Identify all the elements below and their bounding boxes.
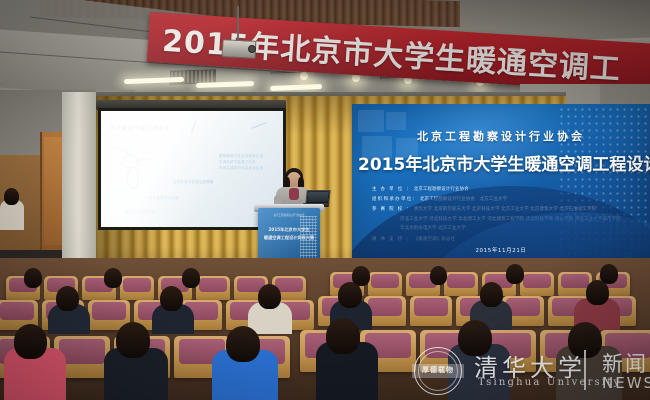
watermark: 厚德载物 清华大学 Tsinghua University 新闻 NEWS (412, 344, 650, 400)
credit-label: 主 办 单 位 ： (372, 186, 412, 192)
blue-backdrop-banner: 北京工程勘察设计行业协会 2015年北京市大学生暖通空调工程设计实践大赛 主 办… (352, 104, 650, 276)
audience-head (182, 268, 200, 288)
ceiling-spotlight (300, 72, 308, 80)
audience-head (506, 264, 524, 284)
watermark-university-en: Tsinghua University (478, 377, 621, 388)
projector-mount-rod (237, 6, 239, 42)
banner-main-title: 2015年北京市大学生暖通空调工程设计实践大赛 (358, 150, 650, 175)
banner-association-title: 北京工程勘察设计行业协会 (352, 128, 650, 144)
seat (520, 272, 554, 296)
seat (444, 272, 478, 296)
seat (368, 272, 402, 296)
audience-head (116, 322, 150, 358)
laptop-screen (307, 192, 328, 202)
speaker-scarf (289, 188, 299, 200)
audience-head (14, 324, 47, 359)
banner-credit-row: 主 办 单 位 ： 北京工程勘察设计行业协会 (372, 186, 469, 192)
audience-head (326, 318, 360, 354)
audience-head (586, 280, 609, 305)
wall-pillar (62, 92, 98, 260)
banner-glow (392, 104, 572, 194)
seat (196, 276, 230, 300)
audience-head (104, 268, 122, 288)
audience-head (56, 286, 79, 311)
seat (410, 296, 452, 326)
audience-head (430, 266, 447, 285)
projector-lens-icon (248, 45, 256, 53)
watermark-divider (584, 350, 586, 390)
seal-motto-text: 厚德载物 (412, 365, 464, 375)
audience-head (226, 326, 260, 362)
banner-date: 2015年11月21日 (352, 246, 650, 254)
credit-label: 组织和承办单位： (372, 196, 418, 202)
audience-head (24, 268, 42, 288)
audience-head (480, 282, 503, 307)
side-attendee-head (4, 188, 19, 205)
audience-head (338, 282, 362, 308)
audience-head (160, 286, 183, 311)
seat (120, 276, 154, 300)
watermark-channel-en: NEWS (602, 374, 650, 392)
audience-head (258, 284, 281, 309)
photo-canvas: 2015年北京市大学生暖通空调工 现代建筑节能空调发展 建筑能耗占社会总能耗比重… (0, 0, 650, 400)
